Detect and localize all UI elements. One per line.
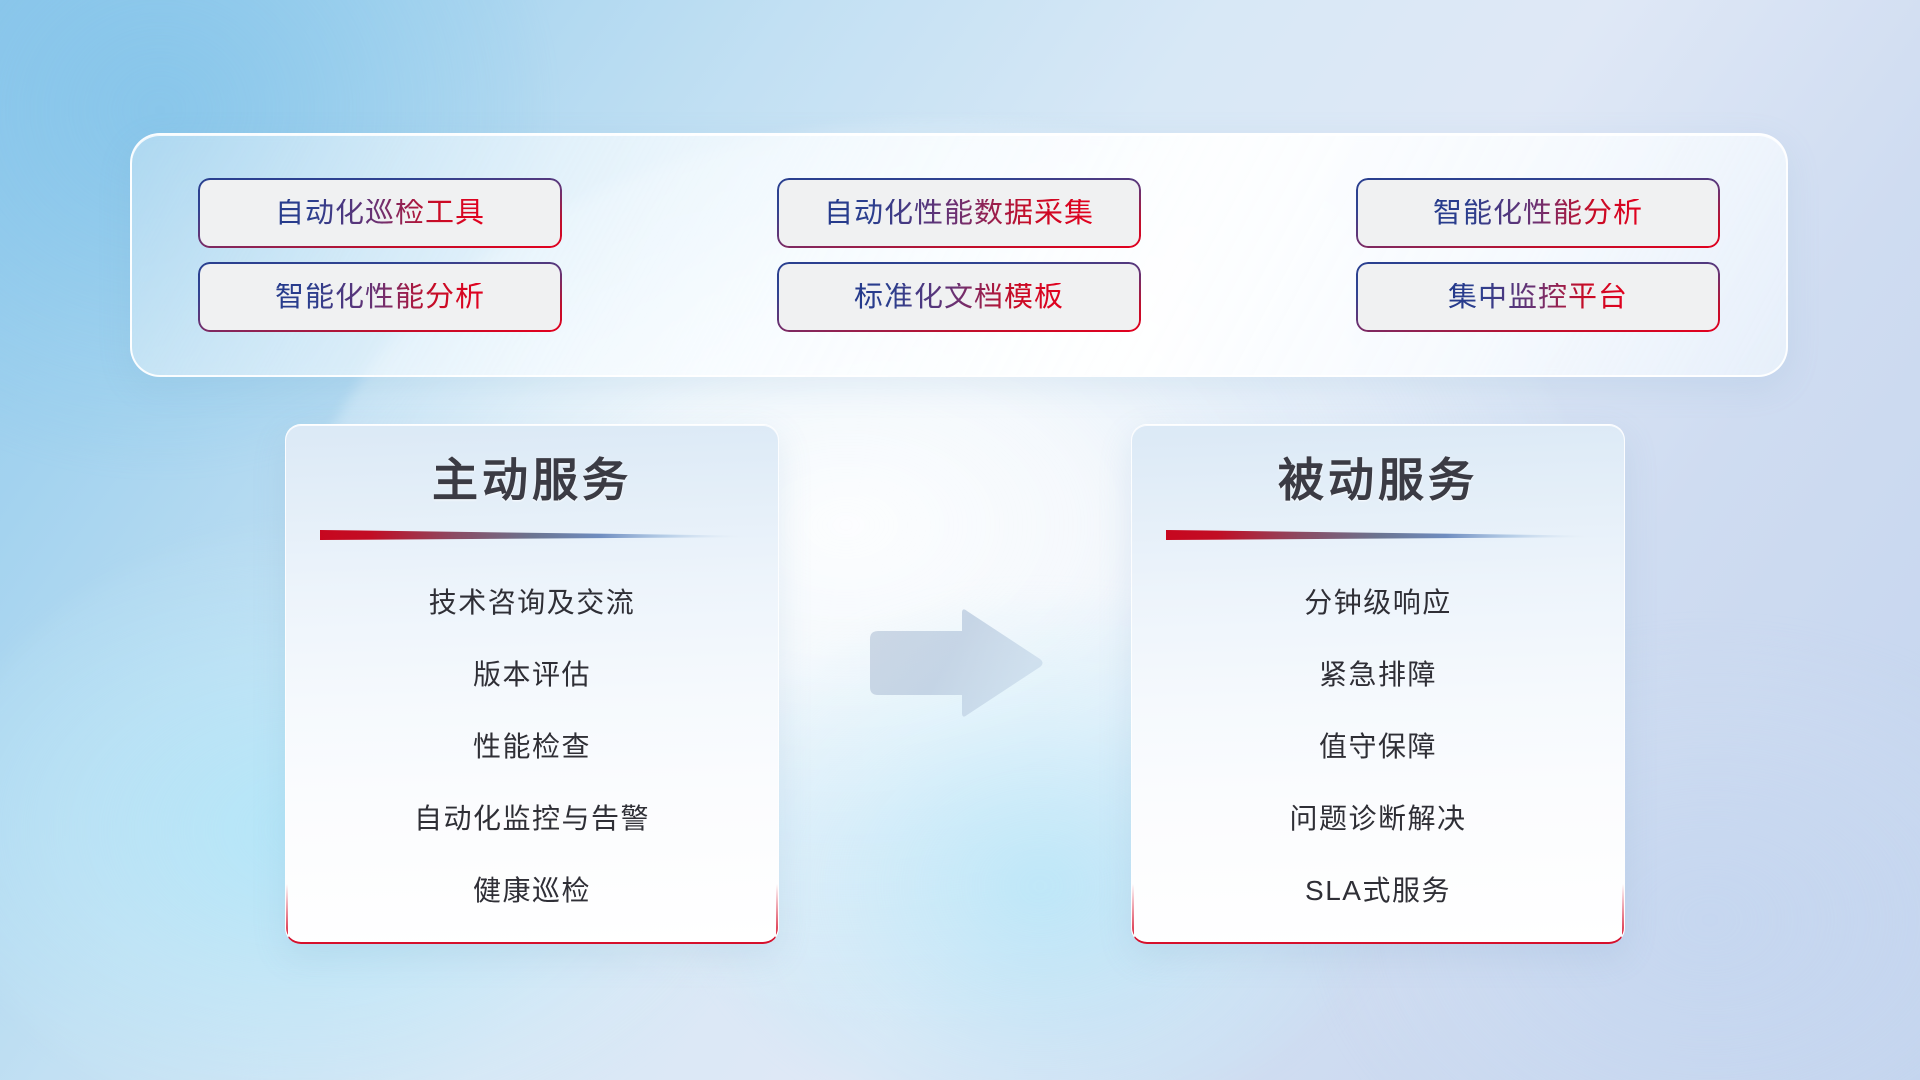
- service-card-list: 技术咨询及交流 版本评估 性能检查 自动化监控与告警 健康巡检: [286, 567, 778, 942]
- list-item[interactable]: 健康巡检: [473, 855, 591, 927]
- capability-row-1: 自动化巡检工具 自动化性能数据采集 智能化性能分析: [200, 180, 1718, 246]
- list-item[interactable]: SLA式服务: [1305, 855, 1451, 927]
- capability-pill-automated-inspection-tool[interactable]: 自动化巡检工具: [200, 180, 560, 246]
- card-title-divider: [1166, 528, 1590, 541]
- list-item[interactable]: 分钟级响应: [1304, 567, 1452, 639]
- capability-pill-label: 自动化巡检工具: [275, 199, 485, 228]
- list-item[interactable]: 紧急排障: [1319, 639, 1437, 711]
- capability-panel: 自动化巡检工具 自动化性能数据采集 智能化性能分析 智能化性能分析 标准化文档模…: [130, 133, 1788, 377]
- capability-pill-centralized-monitoring-platform[interactable]: 集中监控平台: [1358, 264, 1718, 330]
- list-item[interactable]: 值守保障: [1319, 711, 1437, 783]
- service-card-active[interactable]: 主动服务 技术咨询及交流 版本评估: [285, 424, 779, 944]
- service-card-title: 被动服务: [1278, 455, 1478, 506]
- capability-pill-label: 智能化性能分析: [275, 283, 485, 312]
- capability-pill-intelligent-performance-analysis-2[interactable]: 智能化性能分析: [200, 264, 560, 330]
- capability-pill-intelligent-performance-analysis[interactable]: 智能化性能分析: [1358, 180, 1718, 246]
- capability-pill-label: 自动化性能数据采集: [824, 199, 1094, 228]
- list-item[interactable]: 问题诊断解决: [1289, 783, 1466, 855]
- service-card-list: 分钟级响应 紧急排障 值守保障 问题诊断解决 SLA式服务: [1132, 567, 1624, 942]
- capability-pill-label: 标准化文档模板: [854, 283, 1064, 312]
- slide-canvas: 自动化巡检工具 自动化性能数据采集 智能化性能分析 智能化性能分析 标准化文档模…: [0, 0, 1920, 1080]
- card-title-divider: [320, 528, 744, 541]
- capability-row-2: 智能化性能分析 标准化文档模板 集中监控平台: [200, 264, 1718, 330]
- list-item[interactable]: 技术咨询及交流: [429, 567, 636, 639]
- service-card-passive[interactable]: 被动服务 分钟级响应 紧急排障: [1131, 424, 1625, 944]
- capability-pill-label: 智能化性能分析: [1433, 199, 1643, 228]
- service-card-title: 主动服务: [432, 455, 632, 506]
- capability-pill-label: 集中监控平台: [1448, 283, 1628, 312]
- list-item[interactable]: 性能检查: [473, 711, 591, 783]
- right-arrow-icon: [866, 609, 1044, 719]
- list-item[interactable]: 版本评估: [473, 639, 591, 711]
- capability-pill-automated-performance-data-collection[interactable]: 自动化性能数据采集: [779, 180, 1139, 246]
- capability-pill-standardized-document-template[interactable]: 标准化文档模板: [779, 264, 1139, 330]
- list-item[interactable]: 自动化监控与告警: [414, 783, 650, 855]
